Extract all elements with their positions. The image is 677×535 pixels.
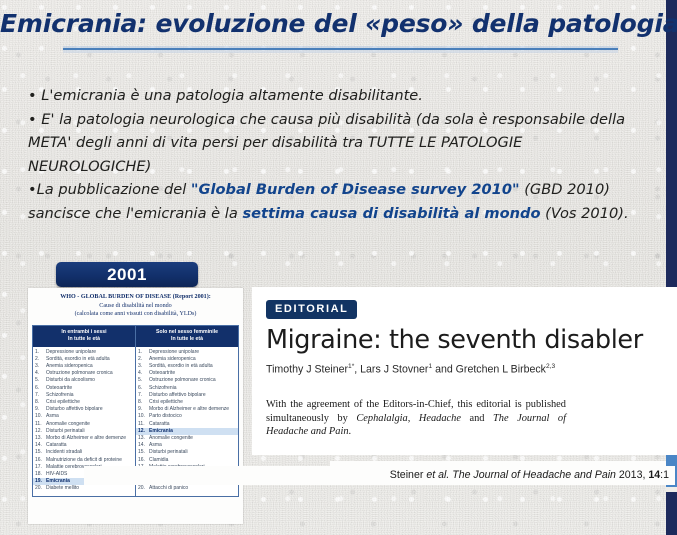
row-label: Disturbo affettivo bipolare	[46, 406, 133, 413]
table-row: 11.Cataratta	[136, 421, 238, 428]
row-label: Attacchi di panico	[149, 485, 236, 492]
column-header-female-only: Solo nel sesso femminile In tutte le età	[136, 326, 238, 347]
row-rank: 10.	[138, 413, 149, 420]
row-rank: 12.	[138, 428, 149, 435]
bullet-line-2: • E' la patologia neurologica che causa …	[28, 108, 648, 179]
column-header-female-only-line1: Solo nel sesso femminile	[137, 329, 237, 336]
table-row: 10.Parto distocico	[136, 413, 238, 420]
table-row: 6.Schizofrenia	[136, 385, 238, 392]
row-rank: 11.	[35, 421, 46, 428]
caption-line-3: (calcolata come anni vissuti con disabil…	[32, 310, 239, 319]
column-header-both-sexes-line1: In entrambi i sessi	[34, 329, 134, 336]
page-title: Emicrania: evoluzione del «peso» della p…	[0, 9, 648, 38]
table-row: 4.Osteoartrite	[136, 370, 238, 377]
table-row: 1.Depressione unipolare	[136, 349, 238, 356]
table-row: 1.Depressione unipolare	[33, 349, 135, 356]
bullet-line-3: •La pubblicazione del "Global Burden of …	[28, 178, 648, 225]
row-label: Schizofrenia	[46, 392, 133, 399]
row-rank: 4.	[35, 370, 46, 377]
row-rank: 14.	[35, 442, 46, 449]
row-rank: 17.	[35, 464, 46, 471]
row-rank: 1.	[138, 349, 149, 356]
slide-body-text: • L'emicrania è una patologia altamente …	[28, 84, 648, 225]
row-label: Depressione unipolare	[46, 349, 133, 356]
title-underline-rule	[63, 46, 618, 53]
column-header-female-only-line2: In tutte le età	[137, 336, 237, 343]
journal-citation: Steiner et al. The Journal of Headache a…	[84, 466, 675, 485]
table-row: 6.Osteoartrite	[33, 385, 135, 392]
who-table-caption: WHO - GLOBAL BURDEN OF DISEASE (Report 2…	[28, 288, 243, 323]
row-rank: 5.	[138, 377, 149, 384]
row-rank: 11.	[138, 421, 149, 428]
row-rank: 19.	[35, 478, 46, 485]
row-label: Incidenti stradali	[46, 449, 133, 456]
row-label: Cataratta	[46, 442, 133, 449]
row-label: Asma	[46, 413, 133, 420]
row-rank: 6.	[35, 385, 46, 392]
abstract-journals-1: Cephalalgia, Headache	[356, 413, 461, 424]
seventh-cause-emphasis: settima causa di disabilità al mondo	[242, 205, 540, 222]
table-row: 20.Attacchi di panico	[136, 485, 238, 492]
table-row: 9.Disturbo affettivo bipolare	[33, 406, 135, 413]
row-label: Disturbo affettivo bipolare	[149, 392, 236, 399]
row-label: Depressione unipolare	[149, 349, 236, 356]
row-label: Crisi epilettiche	[149, 399, 236, 406]
table-row: 16.Malnutrizione da deficit di proteine	[33, 457, 135, 464]
table-row: 4.Ostruzione polmonare cronica	[33, 370, 135, 377]
row-rank: 2.	[35, 356, 46, 363]
row-rank: 8.	[138, 399, 149, 406]
citation-volume: 14	[648, 469, 660, 481]
table-row: 16.Clamidia	[136, 457, 238, 464]
row-label: Asma	[149, 442, 236, 449]
row-label: Schizofrenia	[149, 385, 236, 392]
table-row: 8.Crisi epilettiche	[33, 399, 135, 406]
journal-authors: Timothy J Steiner1*, Lars J Stovner1 and…	[266, 363, 555, 376]
row-label: Emicrania	[149, 428, 236, 435]
table-row: 10.Asma	[33, 413, 135, 420]
row-rank: 13.	[35, 435, 46, 442]
bullet-line-1: • L'emicrania è una patologia altamente …	[28, 84, 648, 108]
table-row: 8.Crisi epilettiche	[136, 399, 238, 406]
row-rank: 15.	[138, 449, 149, 456]
author-3: and Gretchen L Birbeck	[432, 364, 546, 376]
bullet-line-1-text: L'emicrania è una patologia altamente di…	[41, 87, 423, 104]
row-label: Disturbi da alcoolismo	[46, 377, 133, 384]
row-label: Anemia sideropenica	[149, 356, 236, 363]
row-label: Osteoartrite	[149, 370, 236, 377]
journal-headline: Migraine: the seventh disabler	[266, 325, 643, 355]
row-rank: 8.	[35, 399, 46, 406]
row-label: Malnutrizione da deficit di proteine	[46, 457, 133, 464]
abstract-text-c: .	[349, 426, 352, 437]
row-label: Morbo di Alzheimer e altre demenze	[46, 435, 133, 442]
row-label: Anemia sideropenica	[46, 363, 133, 370]
year-badge-label: 2001	[56, 262, 198, 287]
bullet-line-3-text-a: La pubblicazione del	[37, 181, 191, 198]
row-label: Clamidia	[149, 457, 236, 464]
row-rank: 9.	[138, 406, 149, 413]
author-3-affiliation: 2,3	[546, 363, 555, 370]
citation-text-c: :1	[660, 469, 669, 481]
row-label: Anomalie congenite	[149, 435, 236, 442]
row-rank: 5.	[35, 377, 46, 384]
table-row: 3.Anemia sideropenica	[33, 363, 135, 370]
journal-abstract: With the agreement of the Editors-in-Chi…	[266, 398, 566, 439]
table-row: 5.Ostruzione polmonare cronica	[136, 377, 238, 384]
row-label: Anomalie congenite	[46, 421, 133, 428]
table-row: 5.Disturbi da alcoolismo	[33, 377, 135, 384]
editorial-badge: EDITORIAL	[266, 300, 357, 319]
row-rank: 9.	[35, 406, 46, 413]
slide-title-wrap: Emicrania: evoluzione del «peso» della p…	[0, 9, 648, 38]
table-row: 12.Disturbi perinatali	[33, 428, 135, 435]
figure-journal-editorial: EDITORIAL Migraine: the seventh disabler…	[252, 287, 677, 455]
table-row: 15.Disturbi perinatali	[136, 449, 238, 456]
table-row: 13.Morbo di Alzheimer e altre demenze	[33, 435, 135, 442]
row-label: Cataratta	[149, 421, 236, 428]
row-label: Parto distocico	[149, 413, 236, 420]
right-edge-bar-gap-bottom	[666, 487, 677, 492]
row-rank: 3.	[138, 363, 149, 370]
bullet-glyph: •	[28, 87, 37, 104]
table-row: 14.Cataratta	[33, 442, 135, 449]
citation-text-a: Steiner	[390, 469, 427, 481]
row-label: Crisi epilettiche	[46, 399, 133, 406]
citation-text-b: 2013,	[616, 469, 648, 481]
table-row: 11.Anomalie congenite	[33, 421, 135, 428]
year-badge-2001: 2001	[56, 262, 198, 287]
table-row: 7.Disturbo affettivo bipolare	[136, 392, 238, 399]
gbd-survey-emphasis: "Global Burden of Disease survey 2010"	[191, 181, 520, 198]
citation-journal: et al. The Journal of Headache and Pain	[426, 469, 616, 481]
row-rank: 7.	[35, 392, 46, 399]
row-label: Disturbi perinatali	[149, 449, 236, 456]
caption-line-1: WHO - GLOBAL BURDEN OF DISEASE (Report 2…	[32, 293, 239, 302]
row-rank: 12.	[35, 428, 46, 435]
row-label: Sordità, esordio in età adulta	[149, 363, 236, 370]
row-rank: 7.	[138, 392, 149, 399]
table-row: 15.Incidenti stradali	[33, 449, 135, 456]
row-label: Ostruzione polmonare cronica	[149, 377, 236, 384]
who-table-card: WHO - GLOBAL BURDEN OF DISEASE (Report 2…	[28, 288, 243, 524]
row-rank: 14.	[138, 442, 149, 449]
row-rank: 6.	[138, 385, 149, 392]
author-1: Timothy J Steiner	[266, 364, 348, 376]
row-rank: 16.	[138, 457, 149, 464]
table-row: 3.Sordità, esordio in età adulta	[136, 363, 238, 370]
bullet-line-2-text: E' la patologia neurologica che causa pi…	[28, 111, 625, 175]
table-row: 9.Morbo di Alzheimer e altre demenze	[136, 406, 238, 413]
table-row: 13.Anomalie congenite	[136, 435, 238, 442]
row-rank: 10.	[35, 413, 46, 420]
row-rank: 20.	[35, 485, 46, 492]
bullet-glyph: •	[28, 111, 37, 128]
row-label: Diabete mellito	[46, 485, 133, 492]
row-label: Sordità, esordio in età adulta	[46, 356, 133, 363]
table-row: 2.Anemia sideropenica	[136, 356, 238, 363]
row-rank: 13.	[138, 435, 149, 442]
row-rank: 15.	[35, 449, 46, 456]
row-label: Ostruzione polmonare cronica	[46, 370, 133, 377]
table-row: 20.Diabete mellito	[33, 485, 135, 492]
table-row: 7.Schizofrenia	[33, 392, 135, 399]
row-rank: 4.	[138, 370, 149, 377]
author-2: , Lars J Stovner	[354, 364, 428, 376]
table-row: 14.Asma	[136, 442, 238, 449]
row-rank: 2.	[138, 356, 149, 363]
column-header-both-sexes-line2: In tutte le età	[34, 336, 134, 343]
caption-line-2: Cause di disabilità nel mondo	[32, 302, 239, 311]
bullet-line-3-text-c: (Vos 2010).	[541, 205, 629, 222]
row-label: Disturbi perinatali	[46, 428, 133, 435]
column-header-both-sexes: In entrambi i sessi In tutte le età	[33, 326, 135, 347]
row-rank: 18.	[35, 471, 46, 478]
table-row: 2.Sordità, esordio in età adulta	[33, 356, 135, 363]
row-rank: 1.	[35, 349, 46, 356]
row-rank: 3.	[35, 363, 46, 370]
row-rank: 16.	[35, 457, 46, 464]
row-label: Morbo di Alzheimer e altre demenze	[149, 406, 236, 413]
abstract-text-b: and	[461, 413, 493, 424]
row-label: Osteoartrite	[46, 385, 133, 392]
row-rank: 20.	[138, 485, 149, 492]
table-row: 12.Emicrania	[136, 428, 238, 435]
bullet-glyph: •	[28, 181, 37, 198]
